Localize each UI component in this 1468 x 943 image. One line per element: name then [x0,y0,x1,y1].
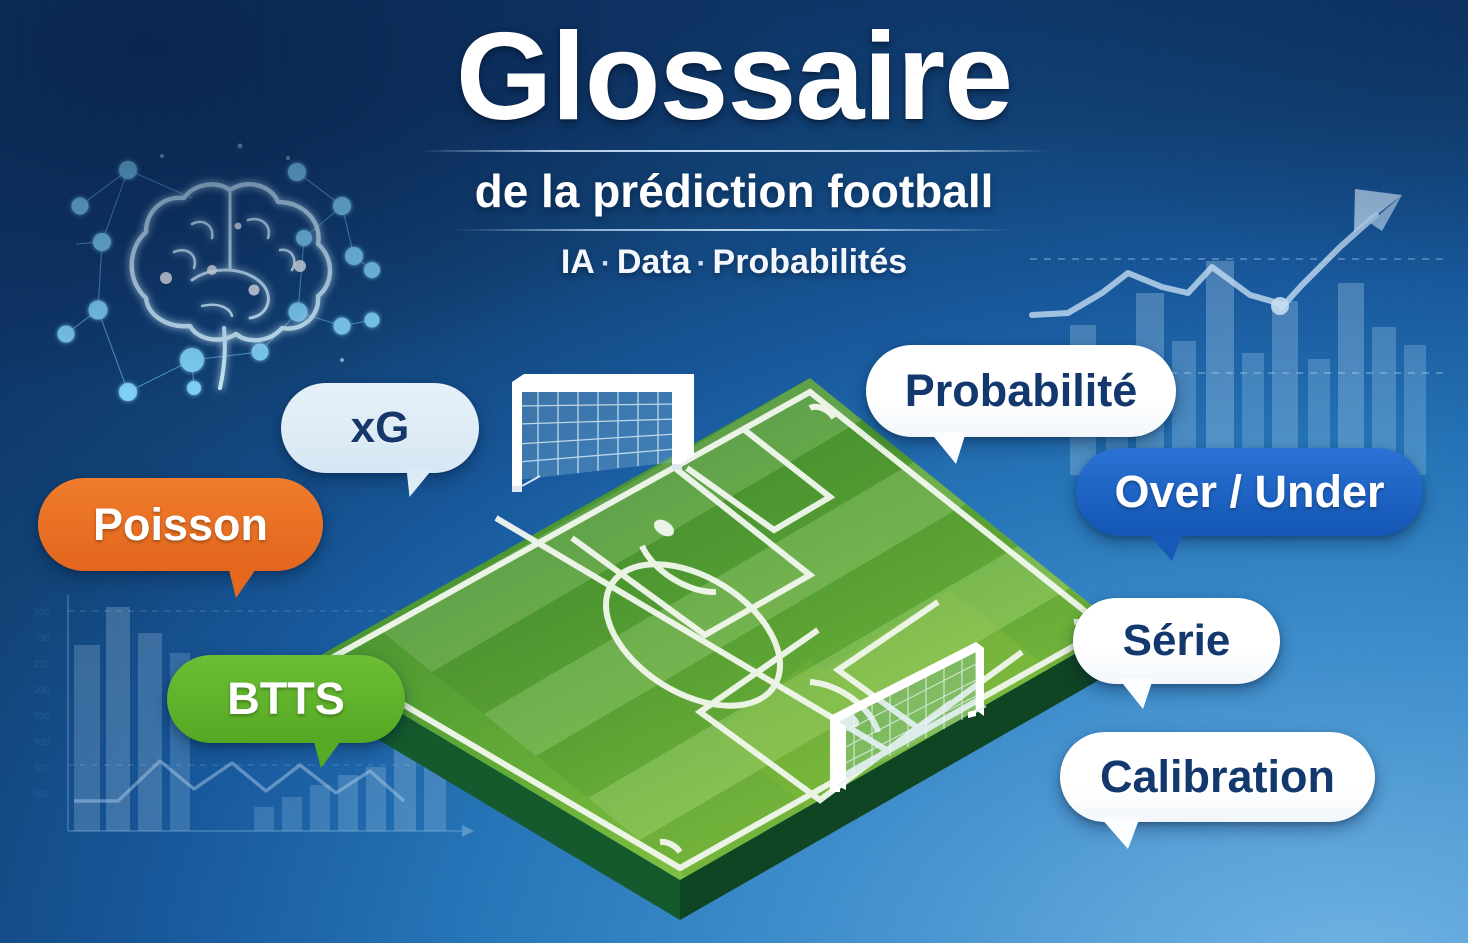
svg-text:200: 200 [34,685,49,695]
bubble-over-under-label: Over / Under [1114,466,1384,518]
tagline-separator-1: · [595,247,617,280]
bubble-calibration-label: Calibration [1100,751,1335,803]
bubble-serie[interactable]: Série [1073,598,1280,684]
bubble-tail-icon [228,566,258,598]
bubble-poisson-label: Poisson [93,499,268,551]
bubble-tail-icon [1119,679,1153,709]
title-divider [419,150,1049,152]
page-subtitle: de la prédiction football [0,164,1468,218]
bubble-calibration[interactable]: Calibration [1060,732,1375,822]
poster-header: Glossaire de la prédiction football IA·D… [0,0,1468,282]
svg-text:900: 900 [34,737,49,747]
bubble-poisson[interactable]: Poisson [38,478,323,571]
tagline-part-probabilites: Probabilités [713,243,908,281]
tagline-part-data: Data [617,243,691,281]
bubble-xg[interactable]: xG [281,383,479,473]
svg-text:500: 500 [34,763,49,773]
tagline-part-ia: IA [561,243,595,281]
subtitle-divider [454,229,1014,231]
bubble-tail-icon [404,469,433,497]
svg-text:500: 500 [34,607,49,617]
bubble-serie-label: Série [1123,616,1231,666]
svg-text:220: 220 [34,659,49,669]
bubble-over-under[interactable]: Over / Under [1076,448,1423,536]
bubble-probabilite-label: Probabilité [905,365,1138,417]
svg-text:700: 700 [34,711,49,721]
bubble-tail-icon [1100,817,1140,849]
svg-text:045: 045 [34,789,49,799]
page-title: Glossaire [0,0,1468,140]
tagline-separator-2: · [691,247,713,280]
svg-text:700: 700 [34,633,49,643]
bubble-xg-label: xG [351,403,410,453]
page-tagline: IA·Data·Probabilités [0,243,1468,282]
bubble-btts-label: BTTS [227,673,345,725]
bubble-btts[interactable]: BTTS [167,655,405,743]
bubble-probabilite[interactable]: Probabilité [866,345,1176,437]
bubble-tail-icon [930,432,966,464]
bubble-tail-icon [1146,531,1184,561]
poster-canvas: 500700 220200 700900 500045 [0,0,1468,943]
bubble-tail-icon [313,738,343,768]
